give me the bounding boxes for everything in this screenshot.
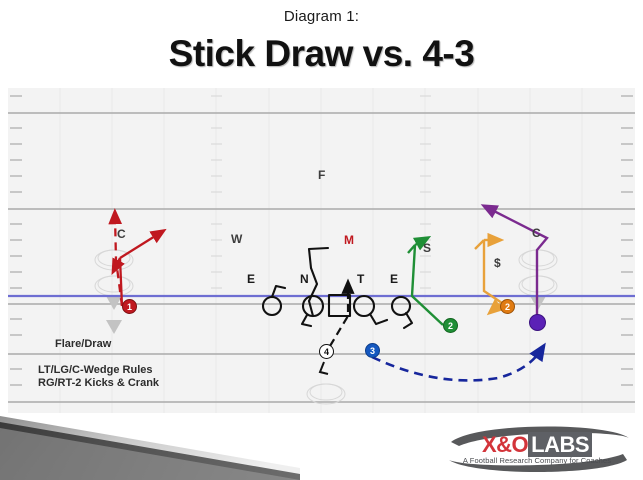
player-receiver-1[interactable]: 1 (122, 299, 137, 314)
label-free-safety: F (318, 168, 325, 182)
label-mike-linebacker: M (344, 233, 354, 247)
label-end-right: E (390, 272, 398, 286)
page-title: Stick Draw vs. 4-3 (0, 33, 643, 75)
label-corner-right: C (532, 226, 541, 240)
player-label: 3 (370, 346, 375, 356)
football-field: F C W M S $ C E N T E Flare/Draw LT/LG/C… (8, 88, 635, 413)
note-wedge-rules: LT/LG/C-Wedge Rules (38, 364, 153, 376)
label-nose: N (300, 272, 309, 286)
note-flare-draw: Flare/Draw (55, 338, 111, 350)
diagram-subtitle: Diagram 1: (0, 8, 643, 25)
player-receiver-green-2[interactable]: 2 (443, 318, 458, 333)
label-sam-linebacker: S (423, 241, 431, 255)
logo-xo-text: X&O (482, 432, 528, 457)
logo-wordmark: X&OLABS (437, 432, 637, 458)
player-runningback-3[interactable]: 3 (365, 343, 380, 358)
player-label: 1 (127, 302, 132, 312)
logo-labs-text: LABS (528, 432, 592, 457)
brand-logo[interactable]: X&OLABS A Football Research Company for … (437, 420, 637, 476)
player-quarterback-4[interactable]: 4 (319, 344, 334, 359)
player-label: 2 (448, 321, 453, 331)
slide-root: Diagram 1: Stick Draw vs. 4-3 (0, 0, 643, 480)
player-receiver-orange-2[interactable]: 2 (500, 299, 515, 314)
label-dollar-defender: $ (494, 256, 501, 270)
label-corner-left: C (117, 227, 126, 241)
player-label: 2 (505, 302, 510, 312)
label-tackle: T (357, 272, 364, 286)
slide-header: Diagram 1: Stick Draw vs. 4-3 (0, 0, 643, 75)
logo-tagline: A Football Research Company for Coaches (437, 456, 637, 465)
player-receiver-purple[interactable] (529, 314, 546, 331)
player-label: 4 (324, 347, 329, 357)
slide-corner-decoration (0, 408, 300, 480)
note-kicks-crank: RG/RT-2 Kicks & Crank (38, 377, 159, 389)
field-canvas: F C W M S $ C E N T E Flare/Draw LT/LG/C… (8, 88, 635, 413)
decoration-shape (0, 408, 300, 480)
label-will-linebacker: W (231, 232, 242, 246)
label-end-left: E (247, 272, 255, 286)
